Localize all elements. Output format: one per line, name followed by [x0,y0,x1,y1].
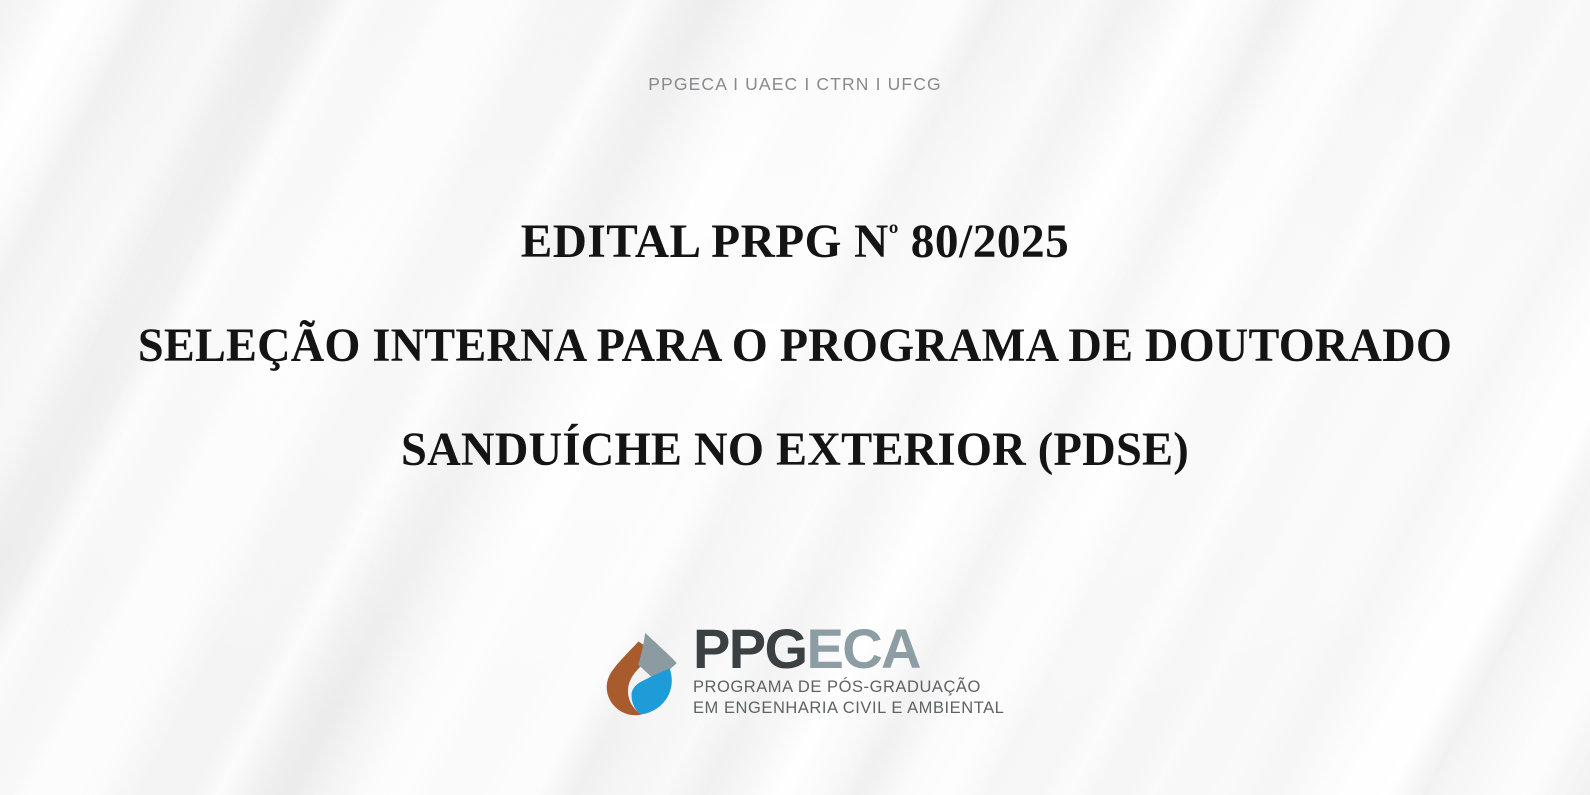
headline-line-1: EDITAL PRPG Nº 80/2025 [12,218,1578,266]
slide-canvas: PPGECA I UAEC I CTRN I UFCG EDITAL PRPG … [0,0,1590,795]
logo-tagline-line-1: PROGRAMA DE PÓS-GRADUAÇÃO [693,677,1004,698]
ordinal-indicator: º [889,219,899,252]
logo-wordmark: PPGECA [693,622,1004,675]
headline-line-3: SANDUÍCHE NO EXTERIOR (PDSE) [24,426,1566,474]
institution-eyebrow: PPGECA I UAEC I CTRN I UFCG [0,74,1590,95]
droplet-gray-blade [637,631,677,680]
slide-content: PPGECA I UAEC I CTRN I UFCG EDITAL PRPG … [0,0,1590,795]
logo-text-lockup: PPGECA PROGRAMA DE PÓS-GRADUAÇÃO EM ENGE… [693,622,1004,719]
headline-line-1-prefix: EDITAL PRPG N [521,215,889,268]
ppgeca-logo: PPGECA PROGRAMA DE PÓS-GRADUAÇÃO EM ENGE… [597,613,997,728]
droplet-icon [597,617,685,725]
logo-wordmark-ppg: PPG [693,617,806,680]
logo-wordmark-eca: ECA [806,617,919,680]
logo-tagline-line-2: EM ENGENHARIA CIVIL E AMBIENTAL [693,698,1004,719]
headline-line-2: SELEÇÃO INTERNA PARA O PROGRAMA DE DOUTO… [28,322,1562,370]
headline-line-1-suffix: 80/2025 [898,215,1069,268]
headline-block: EDITAL PRPG Nº 80/2025 SELEÇÃO INTERNA P… [0,218,1590,474]
